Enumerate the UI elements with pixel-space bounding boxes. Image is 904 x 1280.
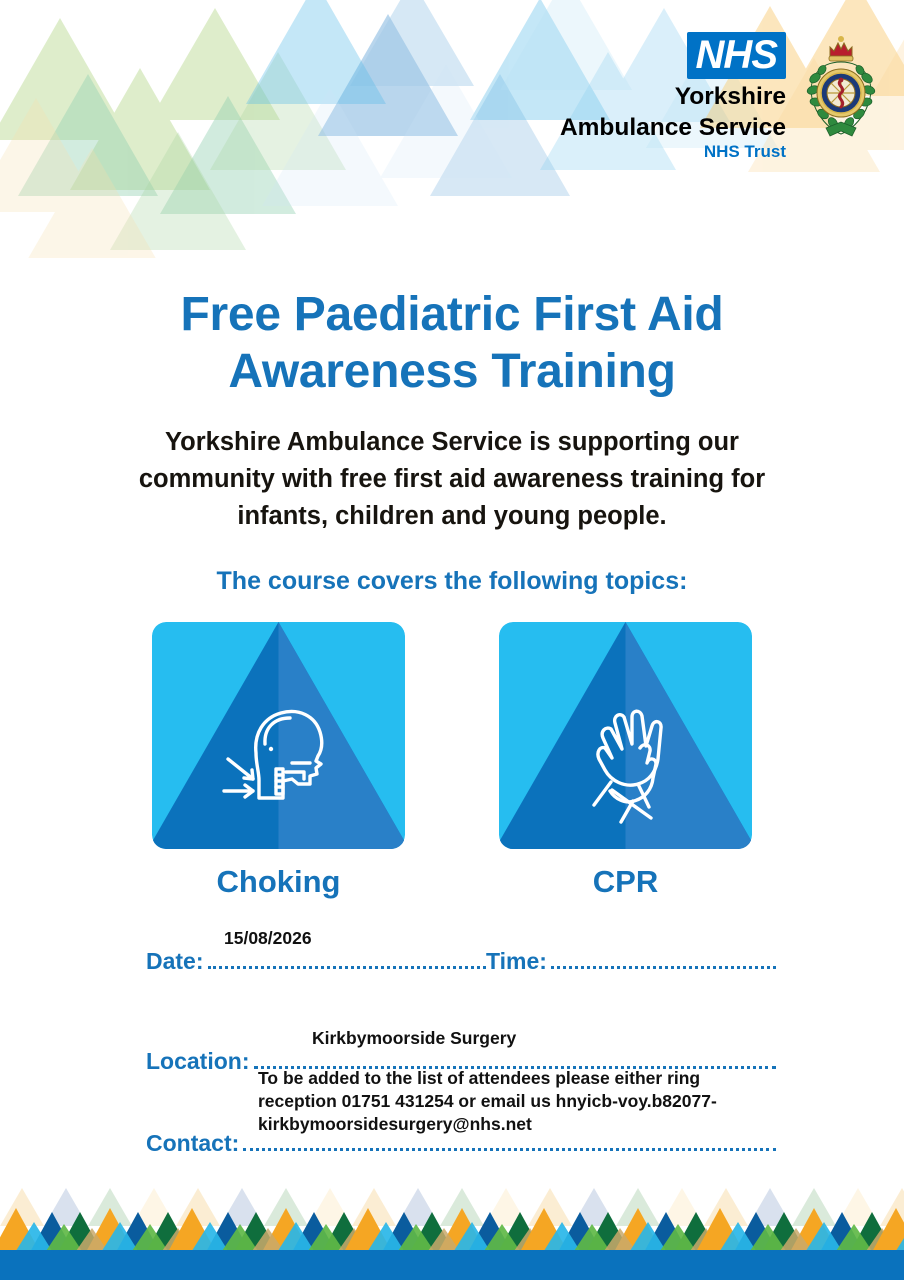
choking-head-icon (152, 622, 405, 849)
date-label: Date: (146, 948, 204, 974)
topic-label-choking: Choking (152, 865, 405, 899)
poster-subtitle: Yorkshire Ambulance Service is supportin… (120, 424, 784, 535)
time-label: Time: (486, 948, 547, 974)
date-time-row: Date: 15/08/2026 Time: 10.00 – 11.00 (146, 980, 776, 1024)
contact-dotted-leader (243, 1142, 776, 1151)
topic-tile-cpr: CPR (499, 622, 752, 899)
location-label: Location: (146, 1048, 250, 1074)
choking-tile-graphic (152, 622, 405, 849)
page-title: Free Paediatric First Aid Awareness Trai… (72, 286, 832, 400)
date-dotted-leader (208, 960, 486, 969)
topic-tile-choking: Choking (152, 622, 405, 899)
topic-label-cpr: CPR (499, 865, 752, 899)
cpr-tile-graphic (499, 622, 752, 849)
topic-tiles: Choking (152, 622, 752, 912)
contact-label: Contact: (146, 1130, 239, 1156)
event-details: Date: 15/08/2026 Time: 10.00 – 11.00 Loc… (146, 980, 776, 1162)
cpr-hands-icon (499, 622, 752, 849)
topics-heading: The course covers the following topics: (120, 566, 784, 596)
contact-value: To be added to the list of attendees ple… (258, 1067, 728, 1136)
location-value: Kirkbymoorside Surgery (312, 1027, 516, 1050)
time-dotted-leader (551, 960, 776, 969)
date-value: 15/08/2026 (224, 927, 312, 950)
contact-row: Contact: To be added to the list of atte… (146, 1080, 776, 1162)
poster-content: Free Paediatric First Aid Awareness Trai… (0, 0, 904, 1280)
